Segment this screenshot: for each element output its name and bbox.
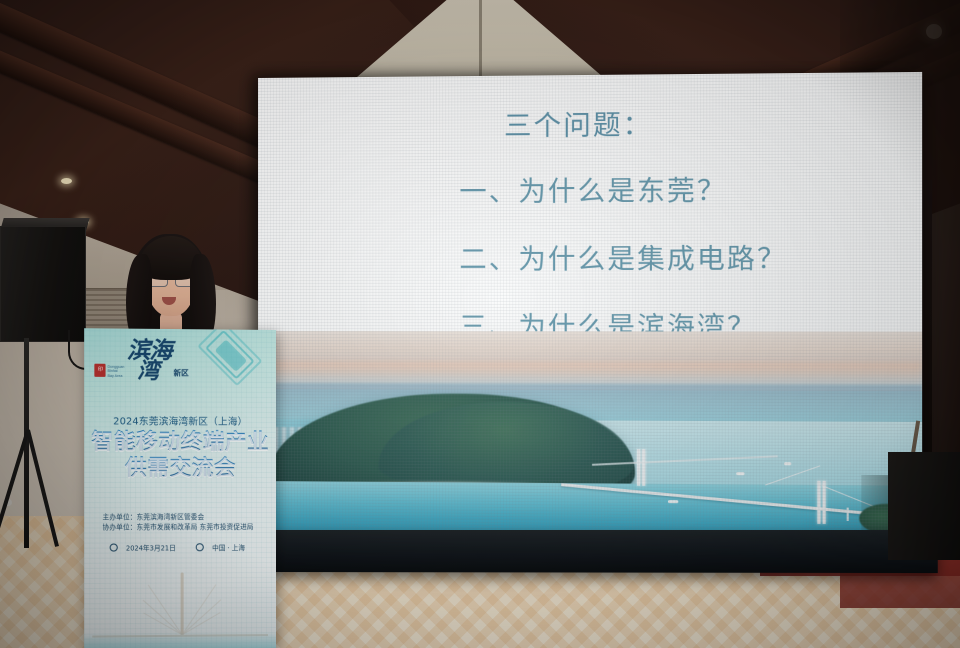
banner-host-line: 主办单位：东莞滨海湾新区管委会 bbox=[103, 512, 267, 522]
watermark-bridge-tower bbox=[181, 572, 184, 634]
binhai-bay-logo: 印 Dongguan Binhai Bay Area 滨海 湾 新区 bbox=[94, 340, 188, 381]
pa-speaker-right bbox=[888, 452, 960, 560]
banner-date: 2024年3月21日 bbox=[110, 544, 182, 552]
stage-skirt bbox=[262, 530, 938, 573]
logo-english-text: Dongguan Binhai Bay Area bbox=[108, 365, 125, 378]
banner-title: 智能移动终端产业 供需交流会 bbox=[84, 429, 276, 482]
photo-boat bbox=[668, 500, 678, 503]
watermark-cable bbox=[182, 584, 217, 635]
presentation-photo-scene: 三个问题： 一、为什么是东莞？ 二、为什么是集成电路？ 三、为什么是滨海湾？ bbox=[0, 0, 960, 648]
logo-subtitle: 新区 bbox=[174, 367, 189, 378]
photo-horizon-haze bbox=[258, 361, 922, 385]
event-banner-board: 印 Dongguan Binhai Bay Area 滨海 湾 新区 2024东… bbox=[84, 328, 276, 648]
banner-title-line2: 供需交流会 bbox=[84, 456, 276, 482]
banner-location: 中国 · 上海 bbox=[196, 544, 251, 552]
photo-bridge-tower bbox=[637, 449, 640, 486]
banner-location-text: 中国 · 上海 bbox=[212, 544, 245, 552]
red-seal-icon: 印 bbox=[94, 364, 105, 377]
banner-cohost-line: 协办单位：东莞市发展和改革局 东莞市投资促进局 bbox=[103, 522, 267, 532]
slide-bullet-1: 一、为什么是东莞？ bbox=[459, 168, 895, 210]
slide-title: 三个问题： bbox=[504, 101, 895, 144]
logo-chinese-text: 滨海 湾 bbox=[127, 341, 172, 382]
banner-organizers: 主办单位：东莞滨海湾新区管委会 协办单位：东莞市发展和改革局 东莞市投资促进局 bbox=[103, 512, 267, 532]
slide-surface: 三个问题： 一、为什么是东莞？ 二、为什么是集成电路？ 三、为什么是滨海湾？ bbox=[258, 72, 922, 542]
banner-date-text: 2024年3月21日 bbox=[126, 544, 176, 552]
photo-boat bbox=[784, 462, 791, 465]
ceiling-downlight bbox=[61, 178, 72, 184]
banner-water-gradient bbox=[84, 632, 276, 648]
led-presentation-screen: 三个问题： 一、为什么是东莞？ 二、为什么是集成电路？ 三、为什么是滨海湾？ bbox=[258, 72, 922, 542]
watermark-cable bbox=[143, 613, 182, 636]
banner-title-line1: 智能移动终端产业 bbox=[84, 429, 276, 456]
diamond-motif-icon bbox=[178, 328, 276, 410]
slide-bullet-2: 二、为什么是集成电路？ bbox=[459, 236, 895, 277]
slide-aerial-photo bbox=[258, 331, 922, 542]
location-icon bbox=[196, 543, 204, 551]
photo-bridge-tower bbox=[817, 481, 820, 524]
banner-kicker: 2024东莞滨海湾新区（上海） bbox=[84, 413, 276, 428]
photo-boat bbox=[736, 472, 744, 475]
banner-meta: 2024年3月21日 中国 · 上海 bbox=[84, 542, 276, 553]
clock-icon bbox=[110, 543, 118, 551]
pa-speaker-cabinet bbox=[0, 226, 86, 342]
photo-bridge-tower bbox=[642, 449, 645, 486]
photo-bridge-pier bbox=[847, 508, 849, 521]
